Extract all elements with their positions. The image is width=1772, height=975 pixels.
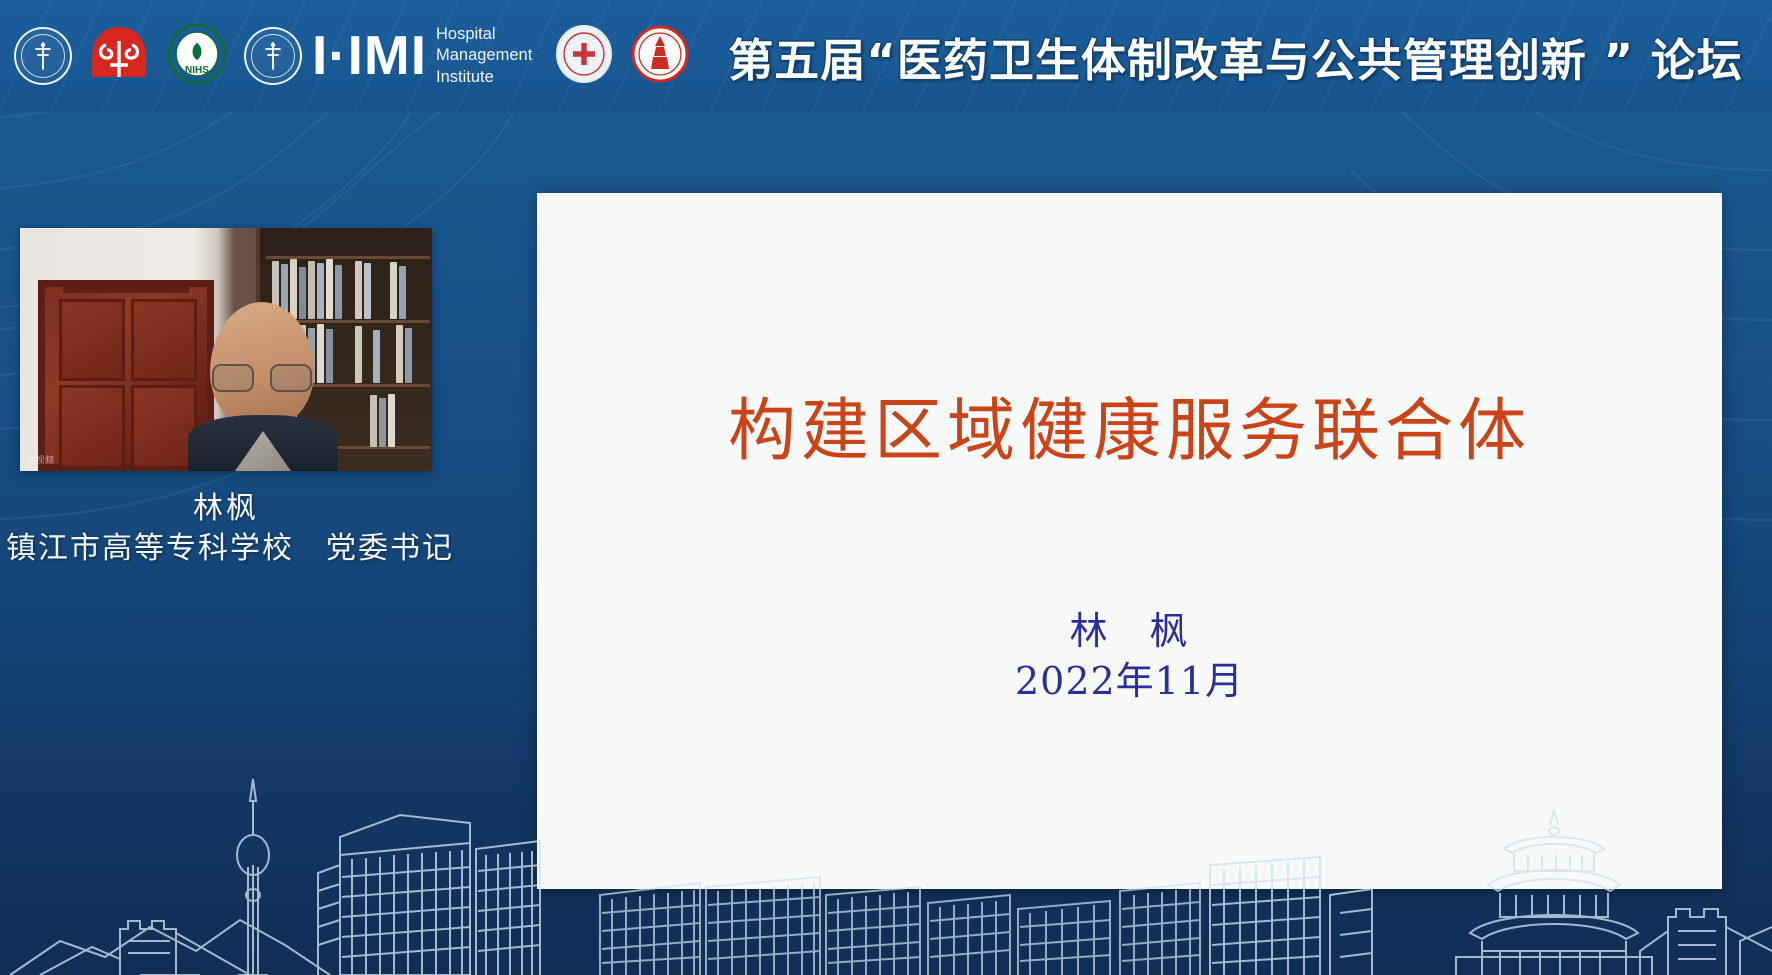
logo-capital-medical-university <box>14 27 72 85</box>
speaker-torso <box>188 415 338 471</box>
watchtower-illustration <box>1640 909 1772 975</box>
slide-date: 2022年11月 <box>537 650 1722 705</box>
speaker-collar <box>235 431 291 471</box>
speaker-affiliation: 镇江市高等专科学校 党委书记 <box>0 523 460 567</box>
hmi-wordmark: I·IMI Hospital Management Institute <box>312 24 532 87</box>
logo-pagoda-seal <box>630 24 690 89</box>
tv-tower-illustration <box>237 779 269 975</box>
presentation-slide[interactable]: 构建区域健康服务联合体 林 枫 2022年11月 <box>537 193 1722 889</box>
nihs-seal-icon: NIHS <box>166 23 228 85</box>
logo-nihs: NIHS <box>166 23 228 90</box>
video-watermark-label: 本视频 <box>26 453 55 466</box>
asclepius-icon-2 <box>262 41 284 71</box>
logo-cmu-hmi-seal <box>244 27 302 85</box>
hospital-complex-illustration <box>600 877 1200 975</box>
red-emblem-icon <box>88 25 150 83</box>
pagoda-seal-icon <box>630 24 690 84</box>
presentation-stage: NIHS I·IMI Hospital Management Institute <box>0 0 1772 975</box>
speaker-glasses <box>212 364 312 388</box>
slide-title: 构建区域健康服务联合体 <box>537 375 1722 474</box>
great-wall-illustration <box>10 920 330 975</box>
hmi-letters: I·IMI <box>312 31 427 81</box>
red-cross-seal-icon <box>554 24 614 84</box>
hmi-subtitle: Hospital Management Institute <box>436 24 532 87</box>
slide-author: 林 枫 <box>537 600 1722 655</box>
asclepius-icon <box>32 41 54 71</box>
event-banner: NIHS I·IMI Hospital Management Institute <box>0 0 1772 112</box>
banner-title: 第五届“医药卫生体制改革与公共管理创新 ” 论坛 <box>728 24 1743 89</box>
secondary-building-illustration <box>476 841 540 975</box>
office-building-illustration <box>318 815 470 975</box>
hmi-sub-line-2: Management <box>436 45 532 66</box>
speaker-portrait <box>188 302 338 471</box>
speaker-name: 林枫 <box>20 483 432 527</box>
hmi-sub-line-1: Hospital <box>436 24 532 45</box>
speaker-video-thumbnail[interactable]: 本视频 <box>20 228 432 471</box>
logo-red-figure-emblem <box>88 25 150 88</box>
hmi-sub-line-3: Institute <box>436 67 532 88</box>
logo-red-cross-seal <box>554 24 614 89</box>
nihs-label: NIHS <box>185 65 209 76</box>
